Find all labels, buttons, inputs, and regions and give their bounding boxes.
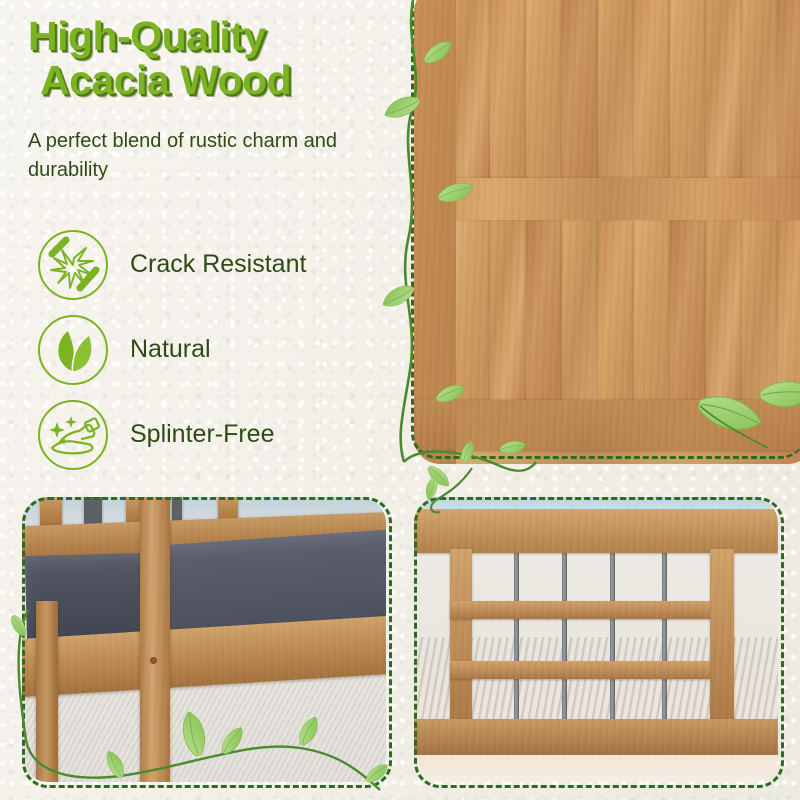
- wood-slat: [454, 0, 490, 178]
- wood-slat-tabletop-photo: [414, 0, 800, 464]
- headline-line-2: Acacia Wood: [40, 58, 418, 102]
- feature-list: Crack Resistant Natural: [38, 222, 378, 477]
- natural-leaf-icon: [38, 315, 108, 385]
- wood-slat: [562, 0, 598, 178]
- feature-item-splinter-free: Splinter-Free: [38, 392, 378, 477]
- feature-item-crack-resistant: Crack Resistant: [38, 222, 378, 307]
- splinter-free-icon: [38, 400, 108, 470]
- wood-slat: [454, 220, 490, 400]
- feature-item-natural: Natural: [38, 307, 378, 392]
- wood-edge-board-bottom: [414, 400, 800, 450]
- leaf-icon: [425, 463, 453, 490]
- window-strip: [414, 497, 778, 509]
- frame-mid-rail-upper: [450, 601, 710, 619]
- floor-shadow-strip: [414, 755, 778, 782]
- wood-slat: [742, 220, 778, 400]
- metal-rod: [662, 541, 667, 721]
- headline-block: High-Quality Acacia Wood: [28, 14, 418, 103]
- wood-slat: [670, 0, 706, 178]
- crack-resistant-icon: [38, 230, 108, 300]
- leaf-icon: [379, 281, 416, 312]
- slat-frame-side-photo: [414, 497, 778, 782]
- metal-rod: [562, 541, 567, 721]
- bed-frame-corner-photo: [22, 497, 386, 782]
- wood-slat: [598, 0, 634, 178]
- wood-slat: [598, 220, 634, 400]
- metal-rod: [514, 541, 519, 721]
- headline-line-1: High-Quality: [28, 14, 418, 58]
- frame-mid-rail-lower: [450, 661, 710, 679]
- screw-head: [150, 657, 157, 664]
- feature-label: Natural: [130, 335, 211, 364]
- wood-slat: [634, 220, 670, 400]
- wood-slat-group-bottom: [454, 220, 800, 400]
- frame-top-rail: [414, 505, 778, 553]
- feature-label: Splinter-Free: [130, 420, 275, 449]
- frame-vertical-post: [450, 549, 472, 729]
- wood-slat: [490, 0, 526, 178]
- wood-slat: [562, 220, 598, 400]
- wood-slat: [778, 0, 800, 178]
- wood-slat: [670, 220, 706, 400]
- frame-bottom-rail: [414, 719, 778, 757]
- wood-slat: [526, 0, 562, 178]
- wood-slat: [634, 0, 670, 178]
- wood-slat: [706, 220, 742, 400]
- wood-cross-rail: [414, 178, 800, 220]
- subtitle-text: A perfect blend of rustic charm and dura…: [28, 127, 358, 185]
- wood-slat: [706, 0, 742, 178]
- feature-label: Crack Resistant: [130, 250, 306, 279]
- wood-edge-board-left: [414, 0, 456, 464]
- metal-rod: [610, 541, 615, 721]
- bed-corner-post: [140, 497, 170, 782]
- wood-slat: [526, 220, 562, 400]
- bed-left-leg: [36, 601, 58, 782]
- wood-slat-group-top: [454, 0, 800, 178]
- wood-slat: [742, 0, 778, 178]
- wood-slat: [490, 220, 526, 400]
- frame-vertical-post: [710, 549, 734, 729]
- infographic-canvas: High-Quality Acacia Wood A perfect blend…: [0, 0, 800, 800]
- wood-slat: [778, 220, 800, 400]
